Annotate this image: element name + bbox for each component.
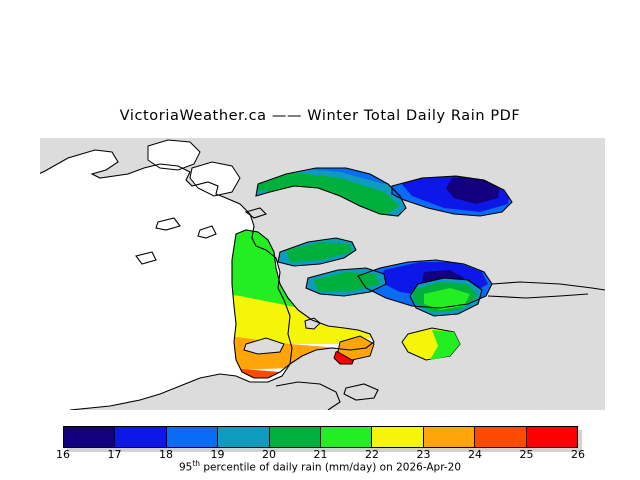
colorbar-band-0[interactable] <box>64 427 115 447</box>
colorbar-band-9[interactable] <box>527 427 577 447</box>
colorbar-band-3[interactable] <box>218 427 269 447</box>
caption-text: percentile of daily rain (mm/day) on 202… <box>200 462 461 474</box>
caption-ordinal-suffix: th <box>192 459 200 468</box>
map-canvas[interactable] <box>40 138 605 410</box>
colorbar[interactable] <box>63 426 578 448</box>
colorbar-band-4[interactable] <box>270 427 321 447</box>
map-svg[interactable] <box>40 138 605 410</box>
colorbar-band-6[interactable] <box>372 427 423 447</box>
weather-map-page: VictoriaWeather.ca —— Winter Total Daily… <box>0 0 640 480</box>
colorbar-band-2[interactable] <box>167 427 218 447</box>
colorbar-band-7[interactable] <box>424 427 475 447</box>
caption-value: 95 <box>179 462 192 474</box>
page-title: VictoriaWeather.ca —— Winter Total Daily… <box>0 108 640 124</box>
colorbar-bands[interactable] <box>63 426 578 448</box>
colorbar-band-1[interactable] <box>115 427 166 447</box>
colorbar-band-5[interactable] <box>321 427 372 447</box>
colorbar-band-8[interactable] <box>475 427 526 447</box>
colorbar-caption: 95th percentile of daily rain (mm/day) o… <box>0 459 640 474</box>
